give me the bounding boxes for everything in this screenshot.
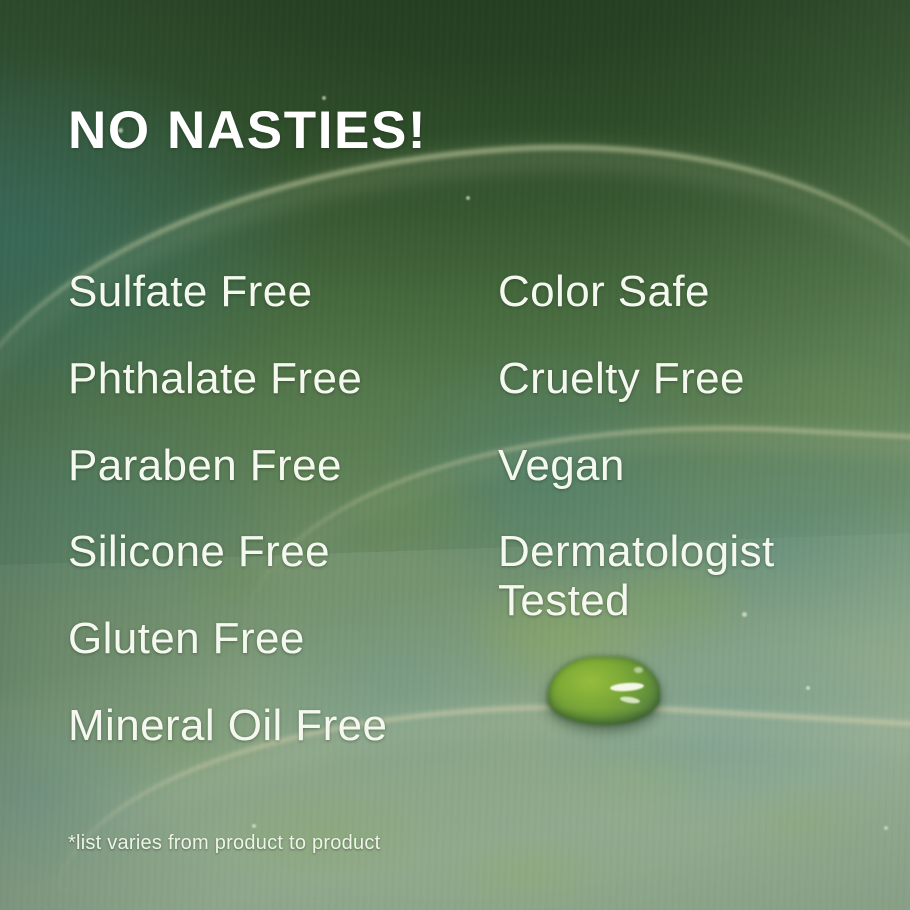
footnote: *list varies from product to product (68, 832, 380, 855)
claims-column-right: Color Safe Cruelty Free Vegan Dermatolog… (498, 268, 898, 664)
claim-item: Paraben Free (68, 442, 488, 491)
claim-item: Sulfate Free (68, 268, 488, 317)
page-title: NO NASTIES! (68, 104, 427, 157)
claim-item: Dermatologist Tested (498, 528, 898, 626)
claim-item: Vegan (498, 442, 898, 491)
claim-item: Gluten Free (68, 615, 488, 664)
claim-item: Mineral Oil Free (68, 702, 488, 751)
claims-column-left: Sulfate Free Phthalate Free Paraben Free… (68, 268, 488, 789)
claim-item: Cruelty Free (498, 355, 898, 404)
claim-item: Silicone Free (68, 528, 488, 577)
poster-content: NO NASTIES! Sulfate Free Phthalate Free … (0, 0, 910, 910)
claim-item: Color Safe (498, 268, 898, 317)
no-nasties-poster: NO NASTIES! Sulfate Free Phthalate Free … (0, 0, 910, 910)
claim-item: Phthalate Free (68, 355, 488, 404)
